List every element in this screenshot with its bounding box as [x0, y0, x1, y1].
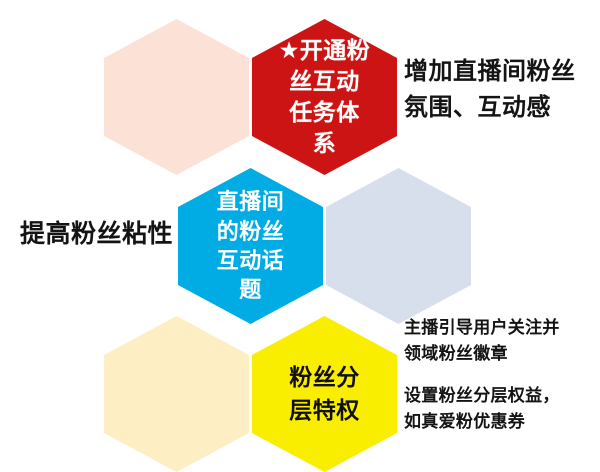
hex-cell-blue[interactable]: 直播间 的粉丝 互动话 题: [178, 168, 323, 324]
hex-cell-lavender[interactable]: [326, 168, 471, 324]
annotation-top-right: 增加直播间粉丝 氛围、互动感: [404, 54, 576, 125]
hex-cell-red-label: ★开通粉 丝互动 任务体 系: [267, 35, 383, 158]
hex-cell-blue-label: 直播间 的粉丝 互动话 题: [205, 187, 297, 305]
hex-cell-cream[interactable]: [104, 316, 249, 472]
hex-cell-peach[interactable]: [104, 19, 249, 175]
annotation-left: 提高粉丝粘性: [20, 218, 173, 251]
hex-cell-yellow[interactable]: 粉丝分 层特权: [252, 316, 397, 472]
hex-cell-yellow-label: 粉丝分 层特权: [277, 361, 372, 426]
infographic-canvas: ★开通粉 丝互动 任务体 系 直播间 的粉丝 互动话 题 粉丝分 层特权 提高粉…: [0, 0, 600, 472]
hex-cell-red[interactable]: ★开通粉 丝互动 任务体 系: [252, 19, 397, 175]
annotation-bottom-right-secondary: 设置粉丝分层权益， 如真爱粉优惠券: [404, 383, 560, 435]
annotation-bottom-right-primary: 主播引导用户关注并 领域粉丝徽章: [404, 315, 560, 367]
